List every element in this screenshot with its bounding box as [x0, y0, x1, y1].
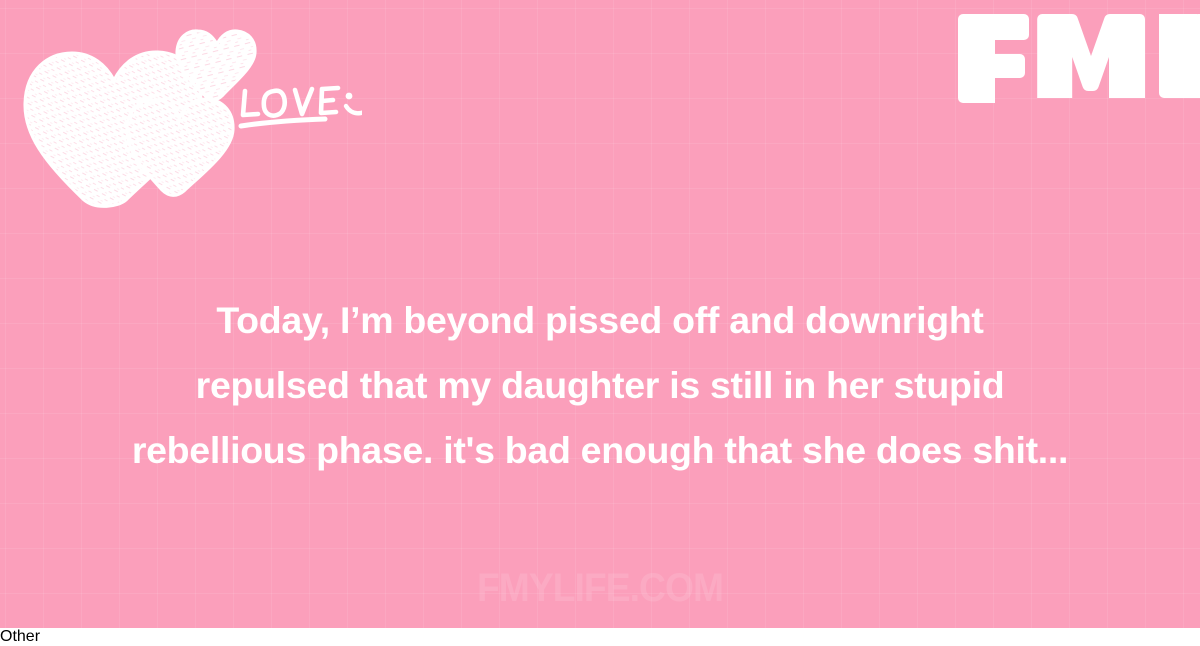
fml-quote-text: Today, I’m beyond pissed off and downrig…: [0, 288, 1200, 483]
fml-quote-card: Today, I’m beyond pissed off and downrig…: [0, 0, 1200, 628]
hearts-artwork: [22, 18, 362, 208]
love-text: [241, 88, 338, 126]
smiley-icon: [346, 91, 362, 114]
quote-line-1: Today, I’m beyond pissed off and downrig…: [58, 288, 1142, 353]
quote-line-3: rebellious phase. it's bad enough that s…: [58, 418, 1142, 483]
quote-line-2: repulsed that my daughter is still in he…: [58, 353, 1142, 418]
site-watermark: FMYLIFE.COM: [42, 566, 1158, 611]
fml-logo[interactable]: [954, 2, 1200, 114]
